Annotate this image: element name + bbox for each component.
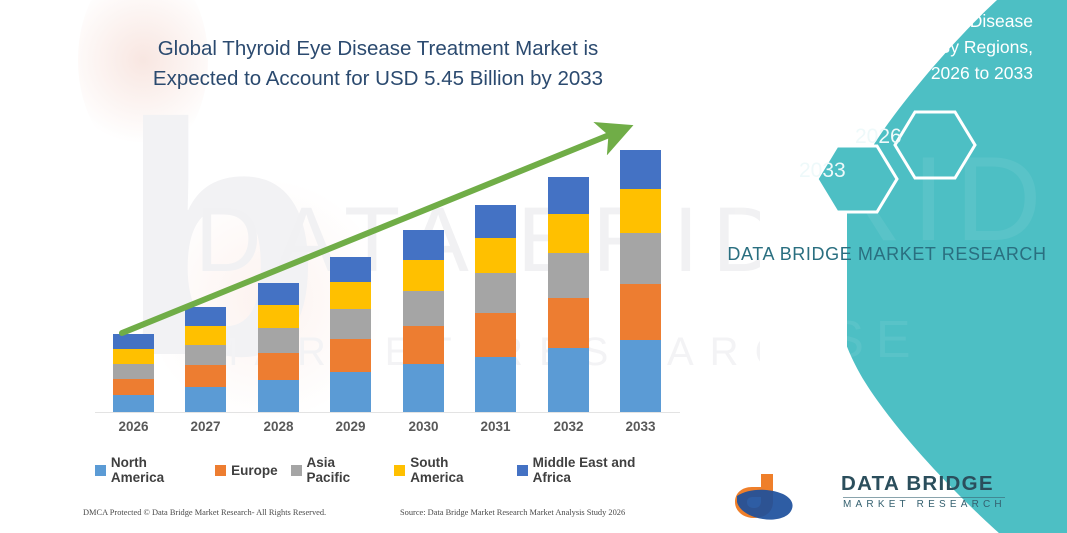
- footer: DMCA Protected © Data Bridge Market Rese…: [0, 508, 700, 528]
- bar-segment-2030-south-america: [403, 260, 444, 291]
- bar-segment-2027-south-america: [185, 326, 226, 345]
- legend-item-north-america[interactable]: North America: [95, 455, 202, 485]
- teal-watermark-line2: RESE: [733, 310, 923, 370]
- x-axis-label-2029: 2029: [321, 419, 381, 434]
- legend-label: South America: [410, 455, 504, 485]
- legend-swatch-icon: [291, 465, 302, 476]
- bar-segment-2031-middle-east-and-africa: [475, 205, 516, 238]
- data-bridge-logo: DATA BRIDGE MARKET RESEARCH: [729, 468, 1049, 526]
- bar-segment-2028-south-america: [258, 305, 299, 328]
- x-axis-label-2033: 2033: [611, 419, 671, 434]
- bar-segment-2029-europe: [330, 339, 371, 372]
- hexagon-2026-label: 2026: [855, 125, 902, 149]
- bar-segment-2027-north-america: [185, 387, 226, 412]
- bar-segment-2027-europe: [185, 365, 226, 387]
- footer-source: Source: Data Bridge Market Research Mark…: [400, 508, 625, 517]
- bar-segment-2032-middle-east-and-africa: [548, 177, 589, 214]
- x-axis-line: [95, 412, 680, 413]
- bar-segment-2033-asia-pacific: [620, 233, 661, 284]
- hexagon-2033-label: 2033: [799, 159, 846, 183]
- bar-segment-2031-asia-pacific: [475, 273, 516, 313]
- legend-item-south-america[interactable]: South America: [394, 455, 503, 485]
- bar-segment-2027-asia-pacific: [185, 345, 226, 365]
- x-axis-label-2032: 2032: [539, 419, 599, 434]
- bar-segment-2028-europe: [258, 353, 299, 380]
- brand-name-text: DATA BRIDGE MARKET RESEARCH: [707, 240, 1067, 269]
- bar-segment-2031-north-america: [475, 357, 516, 412]
- x-axis-label-2028: 2028: [249, 419, 309, 434]
- legend-swatch-icon: [215, 465, 226, 476]
- legend-label: North America: [111, 455, 202, 485]
- bar-segment-2028-middle-east-and-africa: [258, 283, 299, 305]
- footer-copyright: DMCA Protected © Data Bridge Market Rese…: [83, 508, 326, 517]
- legend-item-europe[interactable]: Europe: [215, 463, 278, 478]
- legend-label: Middle East and Africa: [533, 455, 675, 485]
- chart-legend: North AmericaEuropeAsia PacificSouth Ame…: [95, 455, 675, 485]
- bar-segment-2030-asia-pacific: [403, 291, 444, 326]
- bar-segment-2033-europe: [620, 284, 661, 340]
- bar-2027: [185, 307, 226, 412]
- bar-segment-2030-middle-east-and-africa: [403, 230, 444, 260]
- bar-segment-2031-south-america: [475, 238, 516, 273]
- logo-mark-icon: [729, 468, 829, 524]
- logo-subtitle: MARKET RESEARCH: [843, 499, 1006, 510]
- legend-item-asia-pacific[interactable]: Asia Pacific: [291, 455, 382, 485]
- stacked-bar-chart: 20262027202820292030203120322033: [0, 0, 760, 533]
- left-content-panel: b DATA BRIDGE MARKET RESEARCH Global Thy…: [0, 0, 760, 533]
- bar-2029: [330, 257, 371, 412]
- bar-segment-2030-north-america: [403, 364, 444, 412]
- hexagon-2026-shape: [895, 112, 975, 178]
- chart-plot-area: [95, 100, 675, 412]
- logo-divider: [843, 497, 1005, 498]
- bar-2032: [548, 177, 589, 412]
- bar-segment-2026-asia-pacific: [113, 364, 154, 379]
- x-axis-label-2026: 2026: [104, 419, 164, 434]
- right-panel-title: Global Thyroid Eye Disease Treatment Mar…: [783, 8, 1033, 86]
- x-axis-label-2031: 2031: [466, 419, 526, 434]
- x-axis-label-2027: 2027: [176, 419, 236, 434]
- legend-swatch-icon: [394, 465, 405, 476]
- bar-segment-2026-south-america: [113, 349, 154, 364]
- bar-segment-2030-europe: [403, 326, 444, 364]
- bar-segment-2032-asia-pacific: [548, 253, 589, 298]
- bar-segment-2029-north-america: [330, 372, 371, 412]
- bar-segment-2029-south-america: [330, 282, 371, 309]
- bar-segment-2028-north-america: [258, 380, 299, 412]
- bar-2026: [113, 334, 154, 412]
- logo-title: DATA BRIDGE: [841, 472, 994, 496]
- bar-segment-2032-north-america: [548, 348, 589, 412]
- bar-segment-2032-europe: [548, 298, 589, 348]
- bar-segment-2029-asia-pacific: [330, 309, 371, 339]
- bar-segment-2028-asia-pacific: [258, 328, 299, 353]
- bar-segment-2027-middle-east-and-africa: [185, 307, 226, 326]
- legend-label: Europe: [231, 463, 278, 478]
- bar-segment-2026-middle-east-and-africa: [113, 334, 154, 349]
- right-panel-content: BRID RESE Global Thyroid Eye Disease Tre…: [707, 0, 1067, 533]
- bar-segment-2033-north-america: [620, 340, 661, 412]
- bar-2031: [475, 205, 516, 412]
- legend-item-middle-east-and-africa[interactable]: Middle East and Africa: [517, 455, 675, 485]
- bar-segment-2033-south-america: [620, 189, 661, 233]
- bar-2033: [620, 150, 661, 412]
- legend-swatch-icon: [517, 465, 528, 476]
- bar-segment-2026-europe: [113, 379, 154, 395]
- bar-segment-2029-middle-east-and-africa: [330, 257, 371, 282]
- bar-segment-2033-middle-east-and-africa: [620, 150, 661, 189]
- bar-segment-2031-europe: [475, 313, 516, 357]
- right-brand-panel: BRID RESE Global Thyroid Eye Disease Tre…: [707, 0, 1067, 533]
- bar-2030: [403, 230, 444, 412]
- x-axis-label-2030: 2030: [394, 419, 454, 434]
- legend-swatch-icon: [95, 465, 106, 476]
- bar-2028: [258, 283, 299, 412]
- legend-label: Asia Pacific: [307, 455, 382, 485]
- bar-segment-2032-south-america: [548, 214, 589, 253]
- bar-segment-2026-north-america: [113, 395, 154, 412]
